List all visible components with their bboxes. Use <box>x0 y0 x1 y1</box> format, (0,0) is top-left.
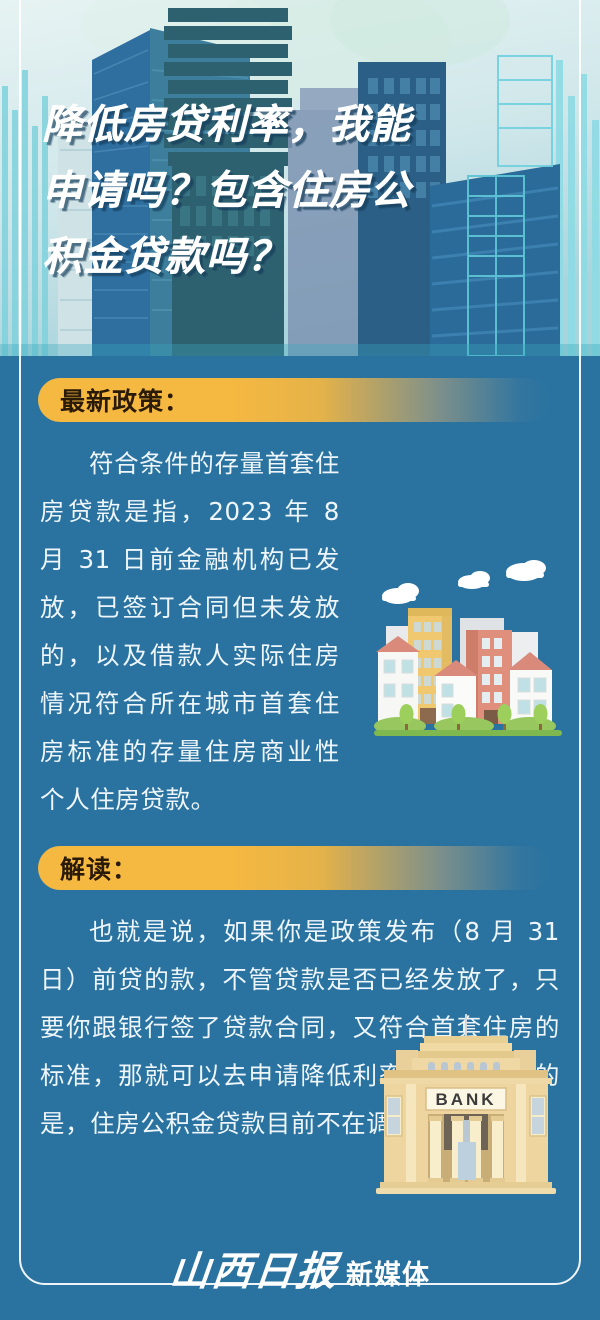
title-line-2: 申请吗？包含住房公 <box>42 158 542 224</box>
sub-brand-label: 新媒体 <box>346 1262 430 1292</box>
section-bar-label: 解读： <box>60 850 138 886</box>
body-content: 最新政策： 符合条件的存量首套住房贷款是指，2023 年 8 月 31 日前金融… <box>0 356 600 1320</box>
section-bar-label: 最新政策： <box>60 382 190 418</box>
page-title: 降低房贷利率，我能 申请吗？包含住房公 积金贷款吗？ <box>42 92 542 290</box>
section-bar-latest-policy: 最新政策： <box>38 378 550 422</box>
paragraph-latest-policy: 符合条件的存量首套住房贷款是指，2023 年 8 月 31 日前金融机构已发放，… <box>40 440 340 824</box>
infographic-poster: 降低房贷利率，我能 申请吗？包含住房公 积金贷款吗？ 最新政策： 符合条件的存量… <box>0 0 600 1320</box>
title-line-3: 积金贷款吗？ <box>42 224 542 290</box>
title-line-1: 降低房贷利率，我能 <box>42 92 542 158</box>
footer-logo: 山西日报 新媒体 <box>0 1252 600 1292</box>
header-banner: 降低房贷利率，我能 申请吗？包含住房公 积金贷款吗？ <box>0 0 600 356</box>
paragraph-interpretation: 也就是说，如果你是政策发布（8 月 31 日）前贷的款，不管贷款是否已经发放了，… <box>40 908 560 1148</box>
brand-wordmark: 山西日报 <box>168 1252 340 1292</box>
section-bar-interpretation: 解读： <box>38 846 550 890</box>
